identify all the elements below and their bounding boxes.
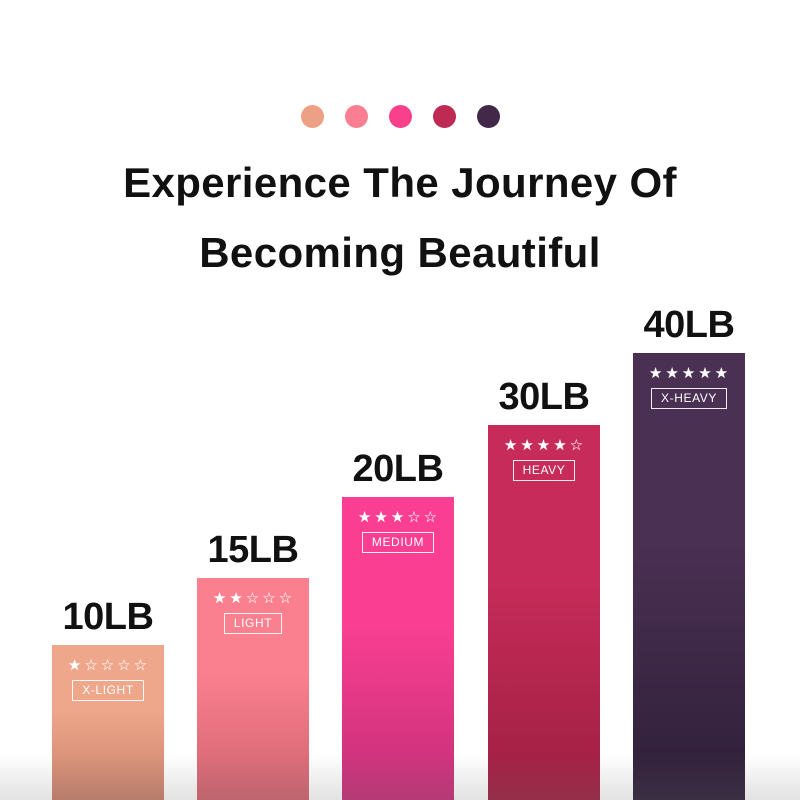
star-filled-icon: ★	[213, 591, 227, 606]
bar-group-x-light[interactable]: 10LB★☆☆☆☆X-LIGHT	[52, 645, 164, 800]
star-empty-icon: ☆	[101, 658, 115, 673]
bar-fill: ★★★★★X-HEAVY	[633, 353, 745, 800]
star-filled-icon: ★	[229, 591, 243, 606]
star-filled-icon: ★	[665, 366, 679, 381]
bar-fill: ★★★☆☆MEDIUM	[342, 497, 454, 800]
star-filled-icon: ★	[68, 658, 82, 673]
level-badge: X-HEAVY	[651, 388, 727, 409]
star-rating: ★★★★★	[649, 366, 729, 381]
star-filled-icon: ★	[682, 366, 696, 381]
star-empty-icon: ☆	[407, 510, 421, 525]
star-filled-icon: ★	[553, 438, 567, 453]
bar-value-label: 30LB	[499, 376, 590, 419]
bar-value-label: 10LB	[63, 596, 154, 639]
star-filled-icon: ★	[537, 438, 551, 453]
level-badge: LIGHT	[224, 613, 282, 634]
star-rating: ★★★☆☆	[358, 510, 438, 525]
product-infographic: Experience The Journey Of Becoming Beaut…	[0, 0, 800, 800]
bar-fill: ★★★★☆HEAVY	[488, 425, 600, 800]
bar-fill: ★★☆☆☆LIGHT	[197, 578, 309, 800]
star-filled-icon: ★	[649, 366, 663, 381]
star-empty-icon: ☆	[246, 591, 260, 606]
star-rating: ★☆☆☆☆	[68, 658, 148, 673]
star-rating: ★★☆☆☆	[213, 591, 293, 606]
bar-fill: ★☆☆☆☆X-LIGHT	[52, 645, 164, 800]
level-badge: MEDIUM	[362, 532, 434, 553]
bar-value-label: 20LB	[353, 448, 444, 491]
star-filled-icon: ★	[358, 510, 372, 525]
star-filled-icon: ★	[520, 438, 534, 453]
star-empty-icon: ☆	[134, 658, 148, 673]
star-filled-icon: ★	[374, 510, 388, 525]
star-filled-icon: ★	[504, 438, 518, 453]
star-filled-icon: ★	[391, 510, 405, 525]
level-badge: X-LIGHT	[72, 680, 144, 701]
bar-value-label: 15LB	[208, 529, 299, 572]
bar-group-x-heavy[interactable]: 40LB★★★★★X-HEAVY	[633, 353, 745, 800]
bar-group-medium[interactable]: 20LB★★★☆☆MEDIUM	[342, 497, 454, 800]
star-filled-icon: ★	[715, 366, 729, 381]
star-filled-icon: ★	[698, 366, 712, 381]
star-empty-icon: ☆	[117, 658, 131, 673]
star-rating: ★★★★☆	[504, 438, 584, 453]
bar-group-light[interactable]: 15LB★★☆☆☆LIGHT	[197, 578, 309, 800]
resistance-bar-chart: 10LB★☆☆☆☆X-LIGHT15LB★★☆☆☆LIGHT20LB★★★☆☆M…	[0, 0, 800, 800]
star-empty-icon: ☆	[262, 591, 276, 606]
star-empty-icon: ☆	[84, 658, 98, 673]
bar-value-label: 40LB	[644, 304, 735, 347]
star-empty-icon: ☆	[570, 438, 584, 453]
star-empty-icon: ☆	[424, 510, 438, 525]
bar-group-heavy[interactable]: 30LB★★★★☆HEAVY	[488, 425, 600, 800]
level-badge: HEAVY	[513, 460, 576, 481]
star-empty-icon: ☆	[279, 591, 293, 606]
